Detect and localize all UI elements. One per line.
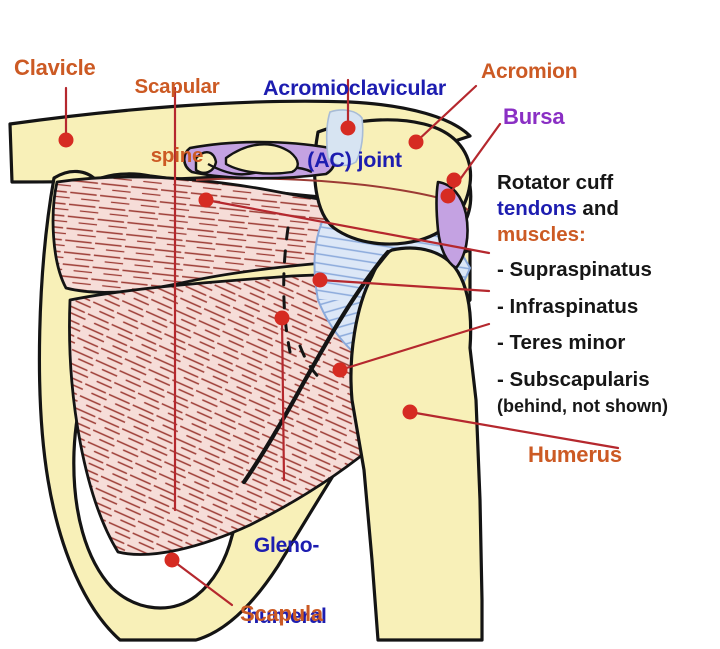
rotator-cuff-muscles-word: muscles:	[497, 222, 712, 248]
label-acromion: Acromion	[481, 60, 577, 84]
rotator-cuff-heading-line2: tendons and	[497, 196, 712, 222]
label-ac-joint-line2: (AC) joint	[252, 148, 457, 172]
diagram-canvas: Clavicle Scapular spine Acromioclavicula…	[0, 0, 720, 649]
rotator-cuff-heading-line1: Rotator cuff	[497, 170, 712, 196]
rotator-cuff-tendons-word: tendons	[497, 197, 577, 220]
label-scapular-spine: Scapular spine	[118, 30, 236, 214]
rotator-cuff-subscapularis-note: (behind, not shown)	[497, 395, 712, 418]
label-ac-joint: Acromioclavicular (AC) joint	[252, 28, 457, 221]
rotator-cuff-legend: Rotator cuff tendons and muscles: - Supr…	[497, 170, 712, 418]
label-glenohumeral-line1: Gleno-	[234, 534, 339, 558]
rotator-cuff-item-teres-minor: - Teres minor	[497, 330, 712, 356]
label-scapular-spine-line1: Scapular	[118, 76, 236, 99]
rotator-cuff-item-supraspinatus: - Supraspinatus	[497, 257, 712, 283]
label-scapular-spine-line2: spine	[118, 145, 236, 168]
label-bursa: Bursa	[503, 105, 564, 130]
label-humerus: Humerus	[528, 443, 622, 468]
label-clavicle: Clavicle	[14, 56, 96, 81]
rotator-cuff-item-subscapularis: - Subscapularis	[497, 367, 712, 393]
rotator-cuff-and-word: and	[577, 197, 619, 220]
label-scapula: Scapula	[240, 602, 323, 627]
rotator-cuff-item-infraspinatus: - Infraspinatus	[497, 294, 712, 320]
rotator-cuff-muscle-list: - Supraspinatus - Infraspinatus - Teres …	[497, 257, 712, 418]
label-ac-joint-line1: Acromioclavicular	[252, 76, 457, 100]
